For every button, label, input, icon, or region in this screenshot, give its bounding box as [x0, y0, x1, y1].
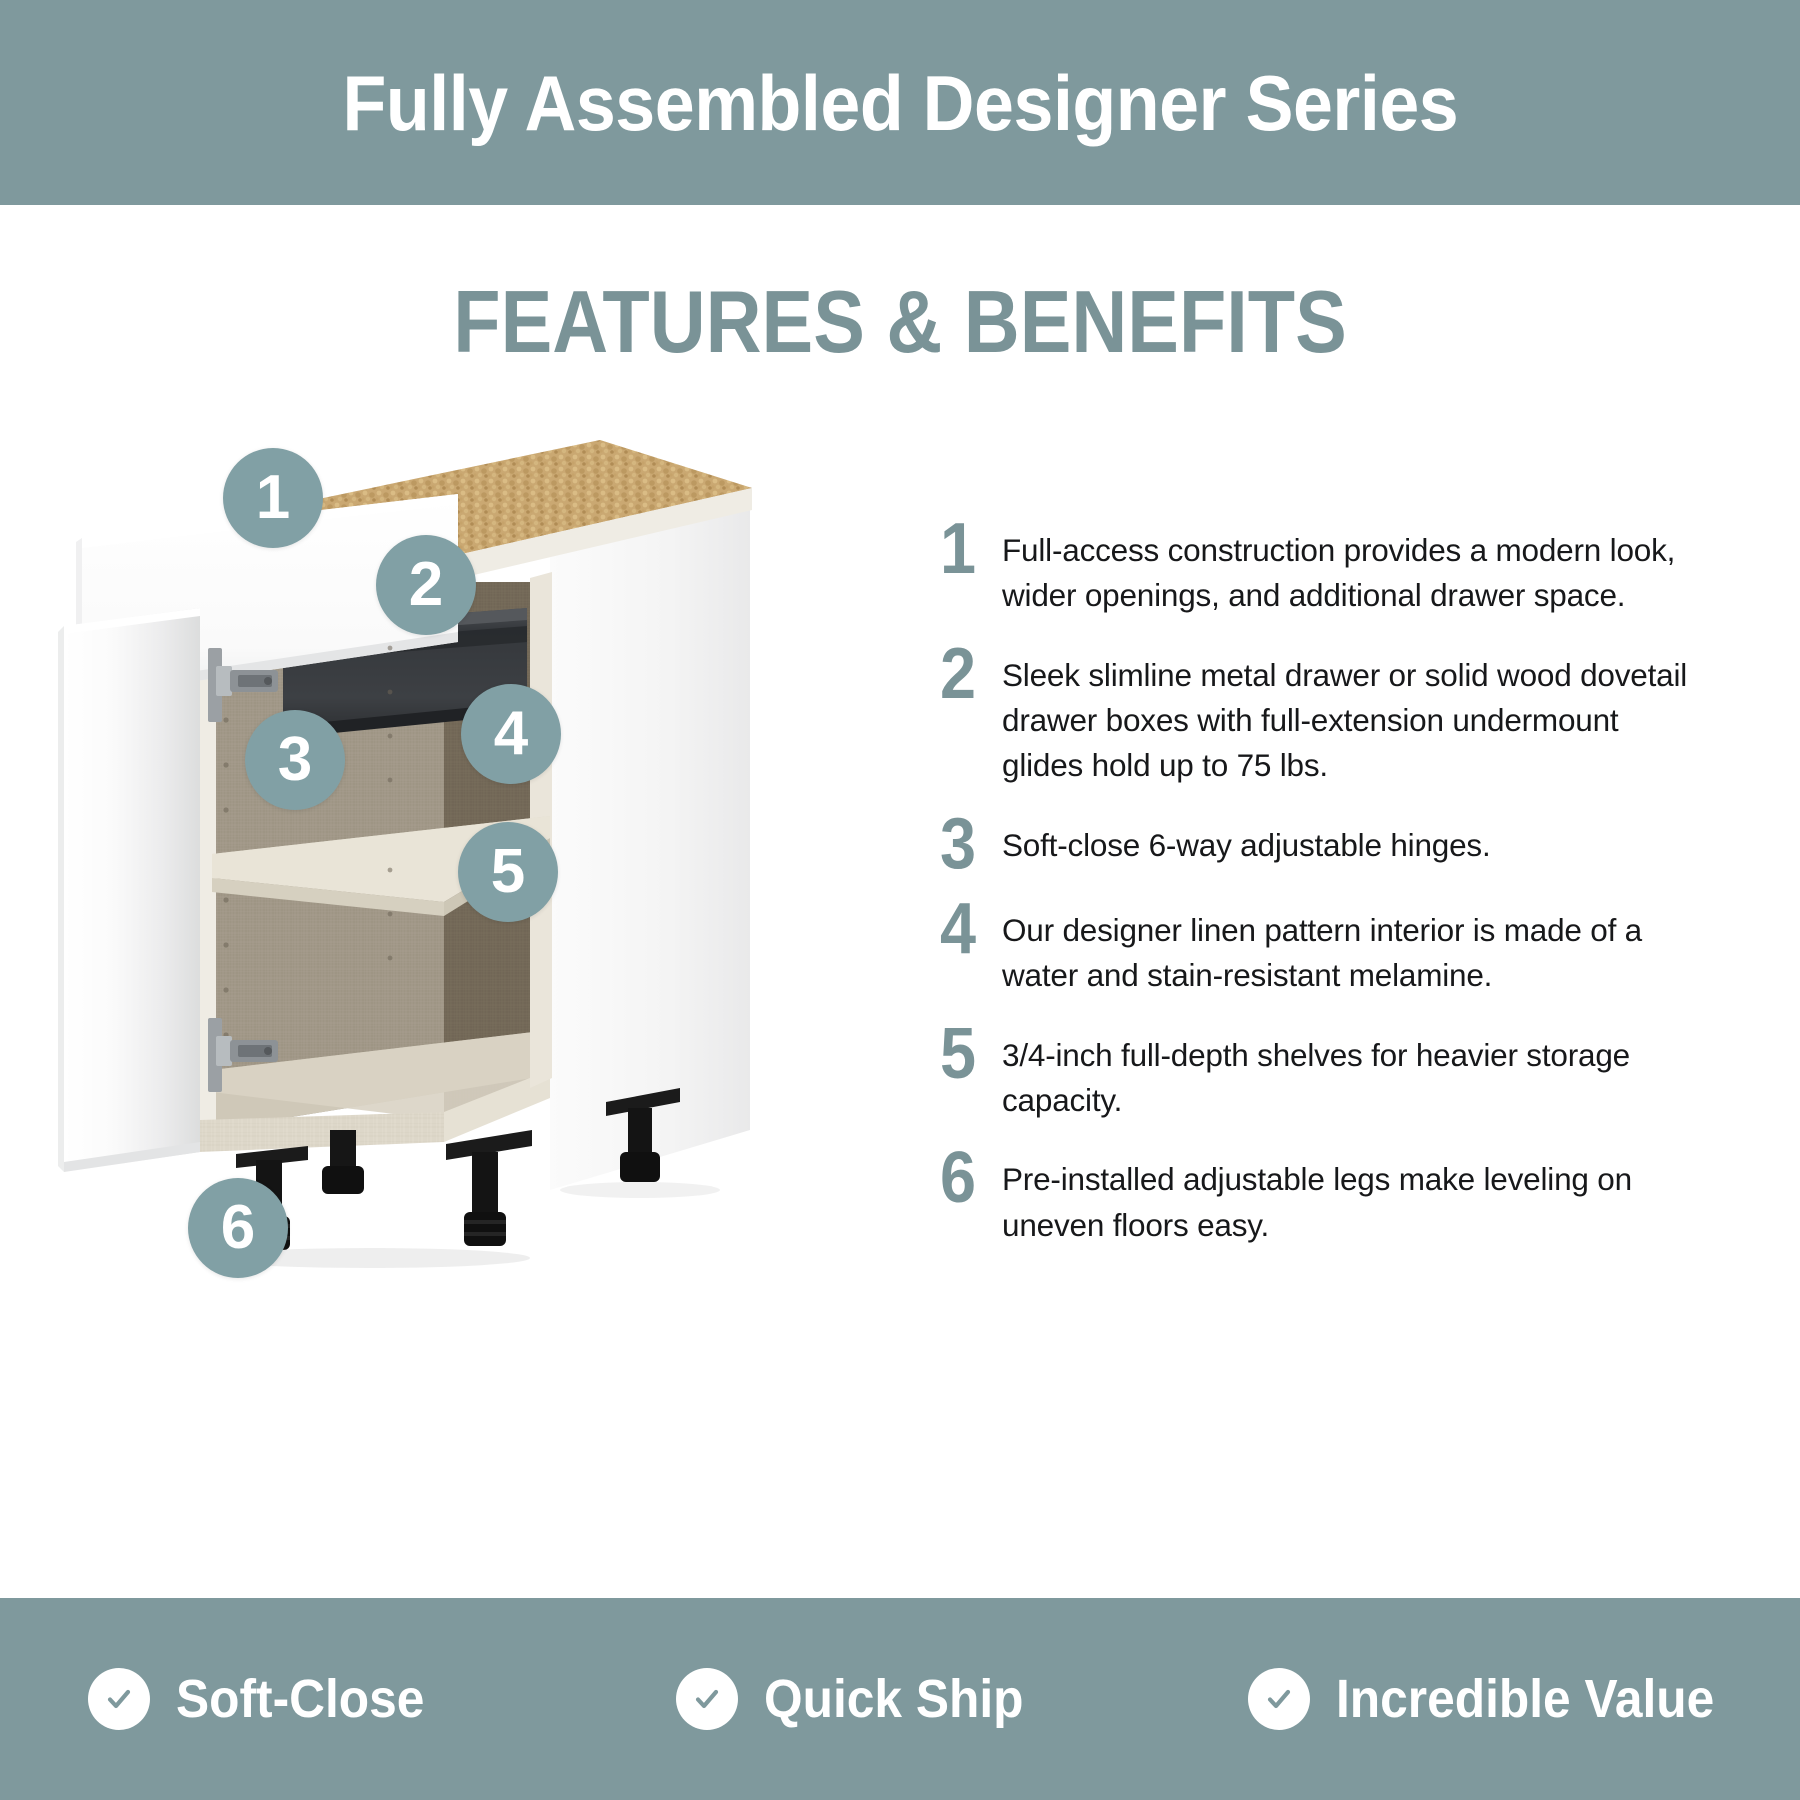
footer-band: Soft-Close Quick Ship Incredible Value: [0, 1598, 1800, 1800]
callout-1: 1: [223, 448, 323, 548]
header-band: Fully Assembled Designer Series: [0, 0, 1800, 205]
callout-3: 3: [245, 710, 345, 810]
callout-5: 5: [458, 822, 558, 922]
cabinet-door-open: [58, 608, 200, 1172]
footer-badge-soft-close: Soft-Close: [88, 1668, 446, 1730]
footer-badge-quick-ship: Quick Ship: [676, 1668, 1046, 1730]
footer-badge-label-3: Incredible Value: [1336, 1672, 1714, 1726]
feature-item-5: 5 3/4-inch full-depth shelves for heavie…: [940, 1025, 1700, 1124]
feature-number-3: 3: [940, 815, 996, 874]
floor-shadow-rear: [560, 1182, 720, 1198]
feature-item-2: 2 Sleek slimline metal drawer or solid w…: [940, 645, 1700, 789]
leg-front-right: [446, 1130, 532, 1246]
feature-text-4: Our designer linen pattern interior is m…: [1002, 900, 1700, 999]
footer-badge-label-2: Quick Ship: [764, 1672, 1023, 1726]
callout-2: 2: [376, 535, 476, 635]
feature-item-6: 6 Pre-installed adjustable legs make lev…: [940, 1149, 1700, 1248]
feature-item-3: 3 Soft-close 6-way adjustable hinges.: [940, 815, 1700, 874]
footer-badge-label-1: Soft-Close: [176, 1672, 424, 1726]
check-icon: [88, 1668, 150, 1730]
callout-6: 6: [188, 1178, 288, 1278]
check-icon: [1248, 1668, 1310, 1730]
feature-number-4: 4: [940, 900, 996, 959]
callout-4: 4: [461, 684, 561, 784]
feature-number-1: 1: [940, 520, 996, 579]
feature-text-2: Sleek slimline metal drawer or solid woo…: [1002, 645, 1700, 789]
feature-number-2: 2: [940, 645, 996, 704]
infographic-page: Fully Assembled Designer Series FEATURES…: [0, 0, 1800, 1800]
feature-text-6: Pre-installed adjustable legs make level…: [1002, 1149, 1700, 1248]
page-title: Fully Assembled Designer Series: [342, 64, 1458, 142]
feature-number-6: 6: [940, 1149, 996, 1208]
feature-text-3: Soft-close 6-way adjustable hinges.: [1002, 815, 1491, 868]
product-illustration: 1 2 3 4 5 6: [40, 430, 880, 1350]
feature-item-4: 4 Our designer linen pattern interior is…: [940, 900, 1700, 999]
cabinet-right-side-panel: [550, 490, 750, 1190]
check-icon: [676, 1668, 738, 1730]
feature-number-5: 5: [940, 1025, 996, 1084]
section-heading: FEATURES & BENEFITS: [108, 278, 1692, 366]
feature-item-1: 1 Full-access construction provides a mo…: [940, 520, 1700, 619]
feature-list: 1 Full-access construction provides a mo…: [940, 520, 1700, 1274]
footer-badge-incredible-value: Incredible Value: [1248, 1668, 1747, 1730]
feature-text-5: 3/4-inch full-depth shelves for heavier …: [1002, 1025, 1700, 1124]
feature-text-1: Full-access construction provides a mode…: [1002, 520, 1700, 619]
